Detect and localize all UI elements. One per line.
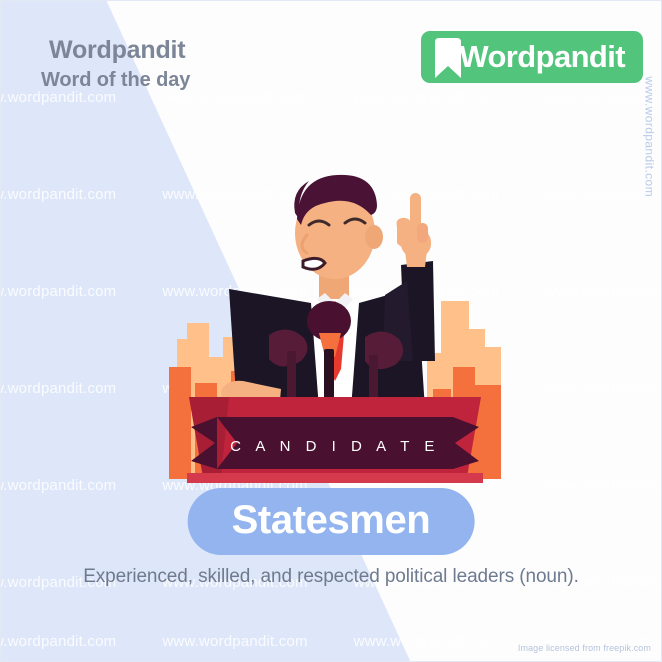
- image-credit: Image licensed from freepik.com: [518, 643, 651, 653]
- word-definition: Experienced, skilled, and respected poli…: [1, 566, 661, 588]
- bookmark-icon: [435, 38, 461, 78]
- brand-logo[interactable]: Wordpandit: [421, 31, 643, 83]
- word-of-the-day-card: www.wordpandit.comwww.wordpandit.comwww.…: [0, 0, 662, 662]
- watermark-vertical: www.wordpandit.com: [643, 76, 657, 197]
- brand-logo-text: Wordpandit: [459, 41, 625, 72]
- page-subtitle: Word of the day: [41, 69, 190, 91]
- politician-at-podium-illustration: C A N D I D A T E: [169, 161, 501, 491]
- banner-text: C A N D I D A T E: [230, 438, 440, 455]
- page-title: Wordpandit: [49, 37, 190, 65]
- raised-hand: [397, 193, 431, 267]
- word-badge: Statesmen: [188, 488, 475, 555]
- header: Wordpandit Word of the day: [49, 37, 190, 91]
- head: [294, 175, 383, 279]
- podium-banner: C A N D I D A T E: [191, 417, 479, 469]
- word-of-the-day-term: Statesmen: [232, 498, 431, 542]
